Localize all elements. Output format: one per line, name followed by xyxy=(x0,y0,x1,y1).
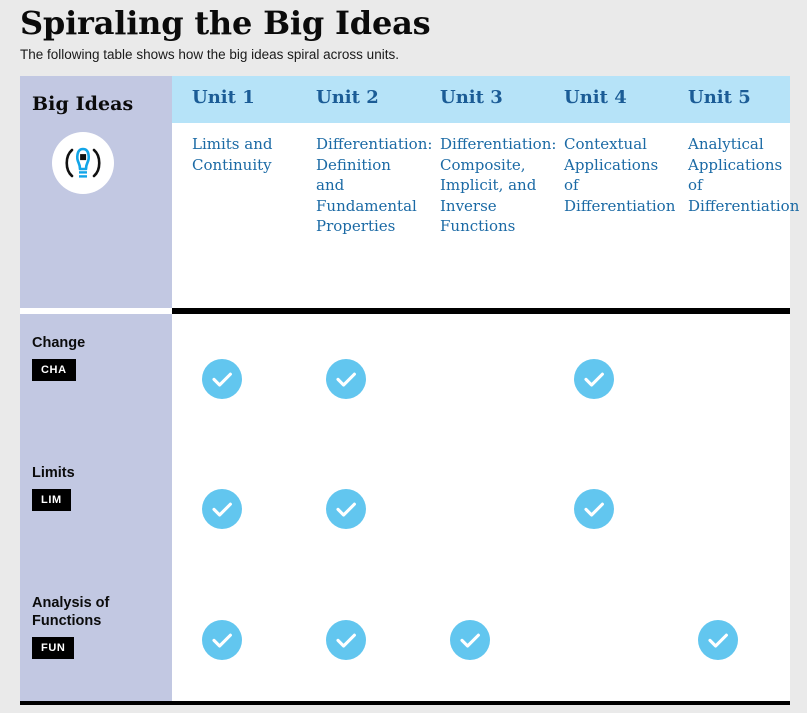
row-label-limits: Limits LIM xyxy=(20,444,172,574)
row-title: Change xyxy=(32,334,164,352)
cell-analysis-unit-1[interactable] xyxy=(172,574,296,705)
row-cells xyxy=(172,444,790,574)
row-cells xyxy=(172,574,790,705)
page-root: Spiraling the Big Ideas The following ta… xyxy=(0,0,807,713)
row-title: Limits xyxy=(32,464,164,482)
row-label-analysis-of-functions: Analysis of Functions FUN xyxy=(20,574,172,705)
spiraling-big-ideas-table: Big Ideas xyxy=(20,76,790,705)
unit-column-5: Unit 5 Analytical Applications of Differ… xyxy=(668,76,792,308)
table-row: Analysis of Functions FUN xyxy=(20,574,790,705)
cell-limits-unit-5[interactable] xyxy=(668,444,792,574)
cell-limits-unit-1[interactable] xyxy=(172,444,296,574)
check-circle-icon xyxy=(202,359,242,399)
unit-3-description: Differentiation: Composite, Implicit, an… xyxy=(440,134,544,237)
unit-column-4: Unit 4 Contextual Applications of Differ… xyxy=(544,76,668,308)
unit-1-label: Unit 1 xyxy=(192,87,255,108)
table-body: Change CHA xyxy=(20,314,790,705)
cell-analysis-unit-3[interactable] xyxy=(420,574,544,705)
unit-column-1: Unit 1 Limits and Continuity xyxy=(172,76,296,308)
check-circle-icon xyxy=(698,620,738,660)
status-badge: LIM xyxy=(32,489,71,511)
cell-analysis-unit-2[interactable] xyxy=(296,574,420,705)
unit-2-label: Unit 2 xyxy=(316,87,379,108)
status-badge: CHA xyxy=(32,359,76,381)
table-row: Limits LIM xyxy=(20,444,790,574)
unit-2-description: Differentiation: Definition and Fundamen… xyxy=(316,134,420,237)
table-row: Change CHA xyxy=(20,314,790,444)
check-circle-icon xyxy=(326,359,366,399)
unit-column-3: Unit 3 Differentiation: Composite, Impli… xyxy=(420,76,544,308)
unit-4-description: Contextual Applications of Differentiati… xyxy=(564,134,668,216)
cell-limits-unit-2[interactable] xyxy=(296,444,420,574)
unit-column-2: Unit 2 Differentiation: Definition and F… xyxy=(296,76,420,308)
row-title: Analysis of Functions xyxy=(32,594,164,630)
table-bottom-rule xyxy=(20,701,790,705)
unit-3-label: Unit 3 xyxy=(440,87,503,108)
cell-change-unit-4[interactable] xyxy=(544,314,668,444)
row-label-change: Change CHA xyxy=(20,314,172,444)
cell-change-unit-3[interactable] xyxy=(420,314,544,444)
unit-4-label: Unit 4 xyxy=(564,87,627,108)
unit-5-description: Analytical Applications of Differentiati… xyxy=(688,134,792,216)
cell-analysis-unit-4[interactable] xyxy=(544,574,668,705)
check-circle-icon xyxy=(326,620,366,660)
status-badge: FUN xyxy=(32,637,74,659)
check-circle-icon xyxy=(574,489,614,529)
cell-limits-unit-3[interactable] xyxy=(420,444,544,574)
check-circle-icon xyxy=(202,620,242,660)
cell-change-unit-1[interactable] xyxy=(172,314,296,444)
page-header: Spiraling the Big Ideas The following ta… xyxy=(20,4,790,64)
big-ideas-heading: Big Ideas xyxy=(32,93,133,115)
unit-5-label: Unit 5 xyxy=(688,87,751,108)
unit-1-description: Limits and Continuity xyxy=(192,134,296,175)
check-circle-icon xyxy=(450,620,490,660)
page-title: Spiraling the Big Ideas xyxy=(20,4,790,42)
row-cells xyxy=(172,314,790,444)
cell-change-unit-2[interactable] xyxy=(296,314,420,444)
cell-analysis-unit-5[interactable] xyxy=(668,574,792,705)
cell-limits-unit-4[interactable] xyxy=(544,444,668,574)
lightbulb-idea-icon xyxy=(52,132,114,194)
check-circle-icon xyxy=(202,489,242,529)
page-subtitle: The following table shows how the big id… xyxy=(20,46,790,64)
check-circle-icon xyxy=(326,489,366,529)
check-circle-icon xyxy=(574,359,614,399)
cell-change-unit-5[interactable] xyxy=(668,314,792,444)
